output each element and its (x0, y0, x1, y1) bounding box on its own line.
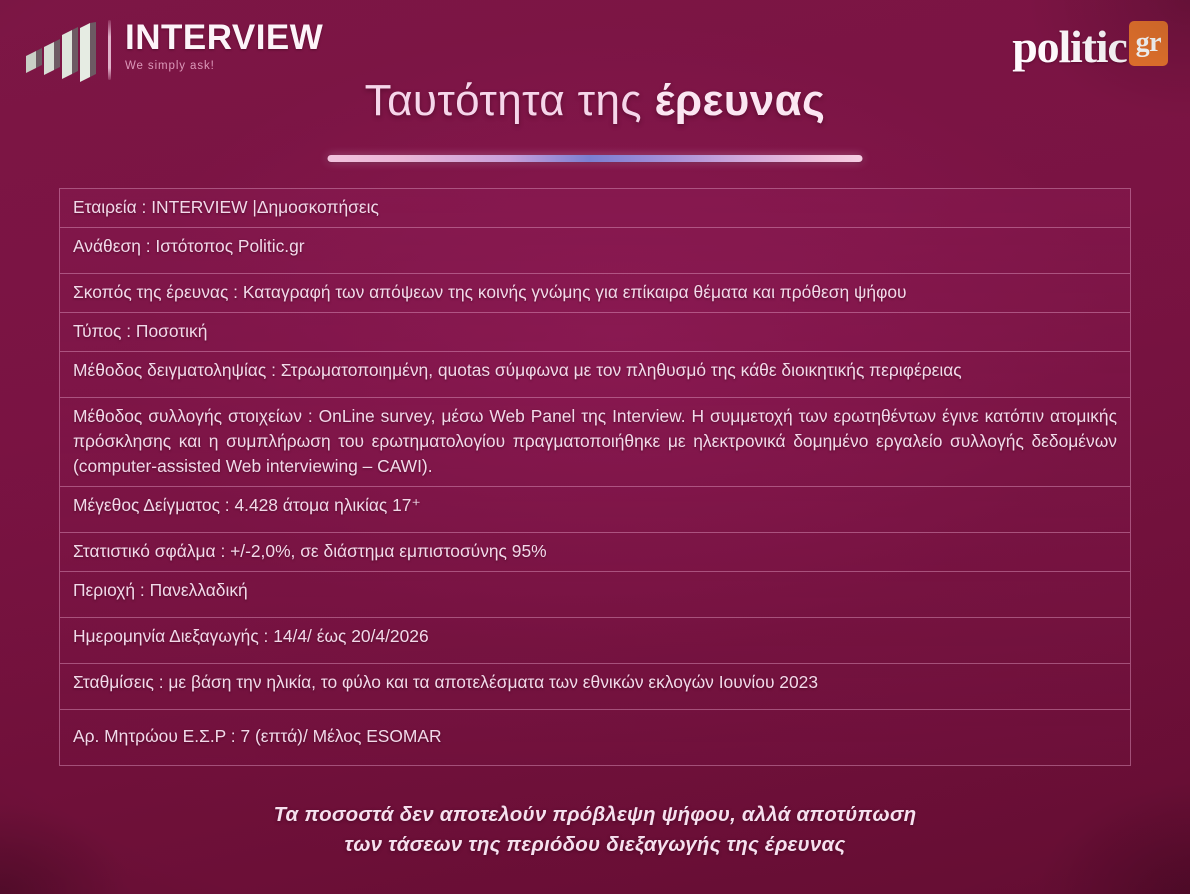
page-title-bold: έρευνας (655, 76, 826, 125)
table-row-company: Εταιρεία : INTERVIEW |Δημοσκοπήσεις (60, 189, 1130, 228)
title-underline-bar (328, 155, 863, 162)
table-row-weighting: Σταθμίσεις : με βάση την ηλικία, το φύλο… (60, 664, 1130, 710)
table-row-type: Τύπος : Ποσοτική (60, 313, 1130, 352)
politic-wordmark: politic (1012, 24, 1126, 70)
table-row-collection-method: Μέθοδος συλλογής στοιχείων : OnLine surv… (60, 398, 1130, 487)
politic-gr-badge: gr (1129, 21, 1168, 66)
table-row-fieldwork-dates: Ημερομηνία Διεξαγωγής : 14/4/ έως 20/4/2… (60, 618, 1130, 664)
logo-divider (108, 20, 111, 80)
politic-gr-logo: politic gr (1012, 24, 1168, 70)
table-row-registry-number: Αρ. Μητρώου Ε.Σ.Ρ : 7 (επτά)/ Μέλος ESOM… (60, 710, 1130, 766)
survey-identity-table: Εταιρεία : INTERVIEW |Δημοσκοπήσεις Ανάθ… (59, 188, 1131, 766)
table-row-sample-size: Μέγεθος Δείγματος : 4.428 άτομα ηλικίας … (60, 487, 1130, 533)
footer-line-2: των τάσεων της περιόδου διεξαγωγής της έ… (0, 830, 1190, 860)
table-row-purpose: Σκοπός της έρευνας : Καταγραφή των απόψε… (60, 274, 1130, 313)
table-row-area: Περιοχή : Πανελλαδική (60, 572, 1130, 618)
table-row-statistical-error: Στατιστικό σφάλμα : +/-2,0%, σε διάστημα… (60, 533, 1130, 572)
page-title: Ταυτότητα της έρευνας (365, 76, 826, 126)
page-title-wrapper: Ταυτότητα της έρευνας (0, 76, 1190, 126)
ascending-bars-icon (24, 22, 102, 82)
footer-line-1: Τα ποσοστά δεν αποτελούν πρόβλεψη ψήφου,… (0, 800, 1190, 830)
interview-logo: INTERVIEW We simply ask! (24, 18, 323, 82)
table-row-commissioned-by: Ανάθεση : Ιστότοπος Politic.gr (60, 228, 1130, 274)
brand-tagline: We simply ask! (125, 60, 323, 72)
page-title-normal: Ταυτότητα της (365, 76, 655, 125)
table-row-sampling-method: Μέθοδος δειγματοληψίας : Στρωματοποιημέν… (60, 352, 1130, 398)
brand-name: INTERVIEW (125, 20, 323, 55)
slide-footer-disclaimer: Τα ποσοστά δεν αποτελούν πρόβλεψη ψήφου,… (0, 800, 1190, 860)
